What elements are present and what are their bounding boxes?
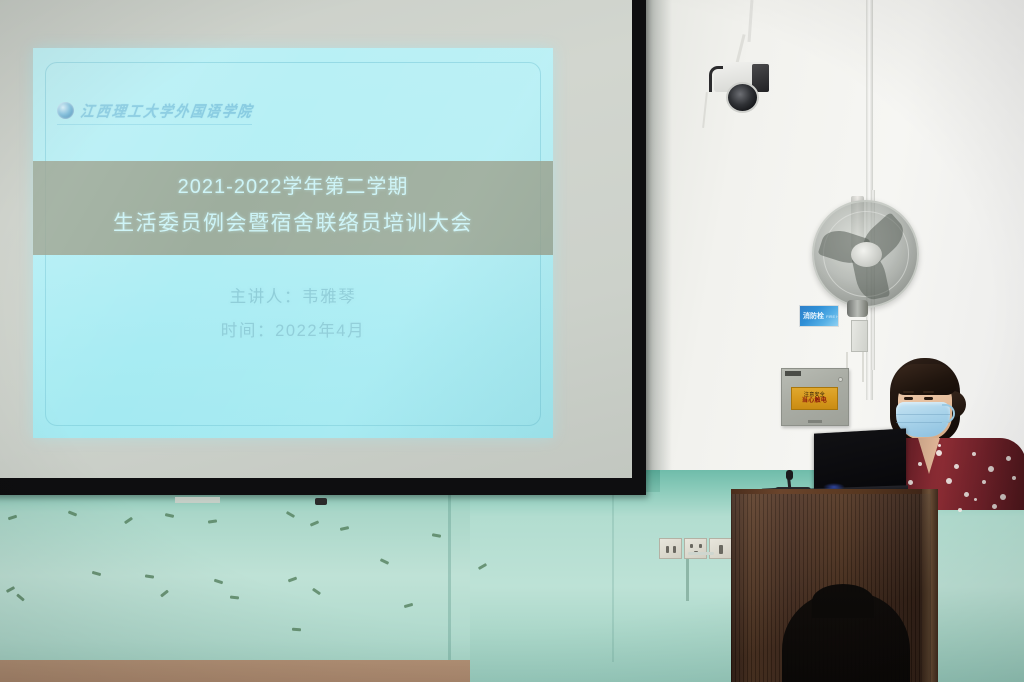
control-box-latch xyxy=(808,420,822,423)
presenter-eyebrow-right xyxy=(923,391,934,393)
lecture-hall-scene: 江西理工大学外国语学院 2021-2022学年第二学期 生活委员例会暨宿舍联络员… xyxy=(0,0,1024,682)
wall-seam-right xyxy=(612,492,614,662)
slide-subtitle-block: 主讲人：韦雅琴 时间：2022年4月 xyxy=(33,280,553,348)
fan-hub xyxy=(851,242,882,267)
screen-bracket-left xyxy=(175,497,220,503)
microphone-icon xyxy=(786,470,793,480)
slide-speaker-line: 主讲人：韦雅琴 xyxy=(33,280,553,314)
presenter-eye-right xyxy=(924,397,933,400)
wall-outlet-right[interactable] xyxy=(709,538,732,559)
outlet-slot xyxy=(690,544,693,548)
outlet-slot xyxy=(719,545,723,554)
warning-label-line-2: 当心触电 xyxy=(802,398,827,405)
projected-slide: 江西理工大学外国语学院 2021-2022学年第二学期 生活委员例会暨宿舍联络员… xyxy=(33,48,553,438)
floor-strip xyxy=(0,660,470,682)
slide-org-logo: 江西理工大学外国语学院 xyxy=(57,100,254,120)
control-box-screw xyxy=(838,377,843,382)
control-box-tag xyxy=(785,371,801,376)
screen-bracket-center xyxy=(315,498,327,505)
camera-mount-arm xyxy=(709,66,723,92)
fan-control-box xyxy=(851,320,868,352)
camera-lens-icon xyxy=(726,82,759,113)
university-emblem-icon xyxy=(57,102,74,119)
wall-control-box: 注意安全 当心触电 xyxy=(781,368,849,426)
blue-wall-plaque: 消防栓 FIRE HYDRANT xyxy=(799,305,839,327)
wall-fan-icon xyxy=(812,200,919,308)
wall-speckle xyxy=(292,628,301,632)
slide-date-line: 时间：2022年4月 xyxy=(33,314,553,348)
control-box-warning-label: 注意安全 当心触电 xyxy=(791,387,838,410)
wall-outlet-left[interactable] xyxy=(659,538,682,559)
outlet-slot xyxy=(699,544,702,548)
wall-corner-shadow xyxy=(646,0,672,472)
slide-title-band: 2021-2022学年第二学期 生活委员例会暨宿舍联络员培训大会 xyxy=(33,161,553,255)
slide-title-line-1: 2021-2022学年第二学期 xyxy=(33,161,553,198)
presenter-eyebrow-left xyxy=(903,391,914,393)
outlet-slot xyxy=(666,546,669,553)
outlet-cable-horizontal xyxy=(688,552,714,555)
wall-seam-left xyxy=(448,492,451,662)
blue-plaque-line-2: FIRE HYDRANT xyxy=(826,314,839,319)
fan-pull-cord-second[interactable] xyxy=(862,352,864,382)
outlet-cable-vertical xyxy=(686,559,689,601)
outlet-slot xyxy=(673,546,676,553)
wall-outlet-center[interactable] xyxy=(684,538,707,559)
wall-lower-teal-left xyxy=(0,470,470,682)
slide-logo-underline xyxy=(57,124,252,125)
slide-org-logo-text: 江西理工大学外国语学院 xyxy=(79,99,255,121)
presenter-eye-left xyxy=(904,397,913,400)
slide-title-line-2: 生活委员例会暨宿舍联络员培训大会 xyxy=(33,198,553,235)
fan-neck xyxy=(847,300,868,317)
blue-plaque-line-1: 消防栓 xyxy=(803,313,824,320)
